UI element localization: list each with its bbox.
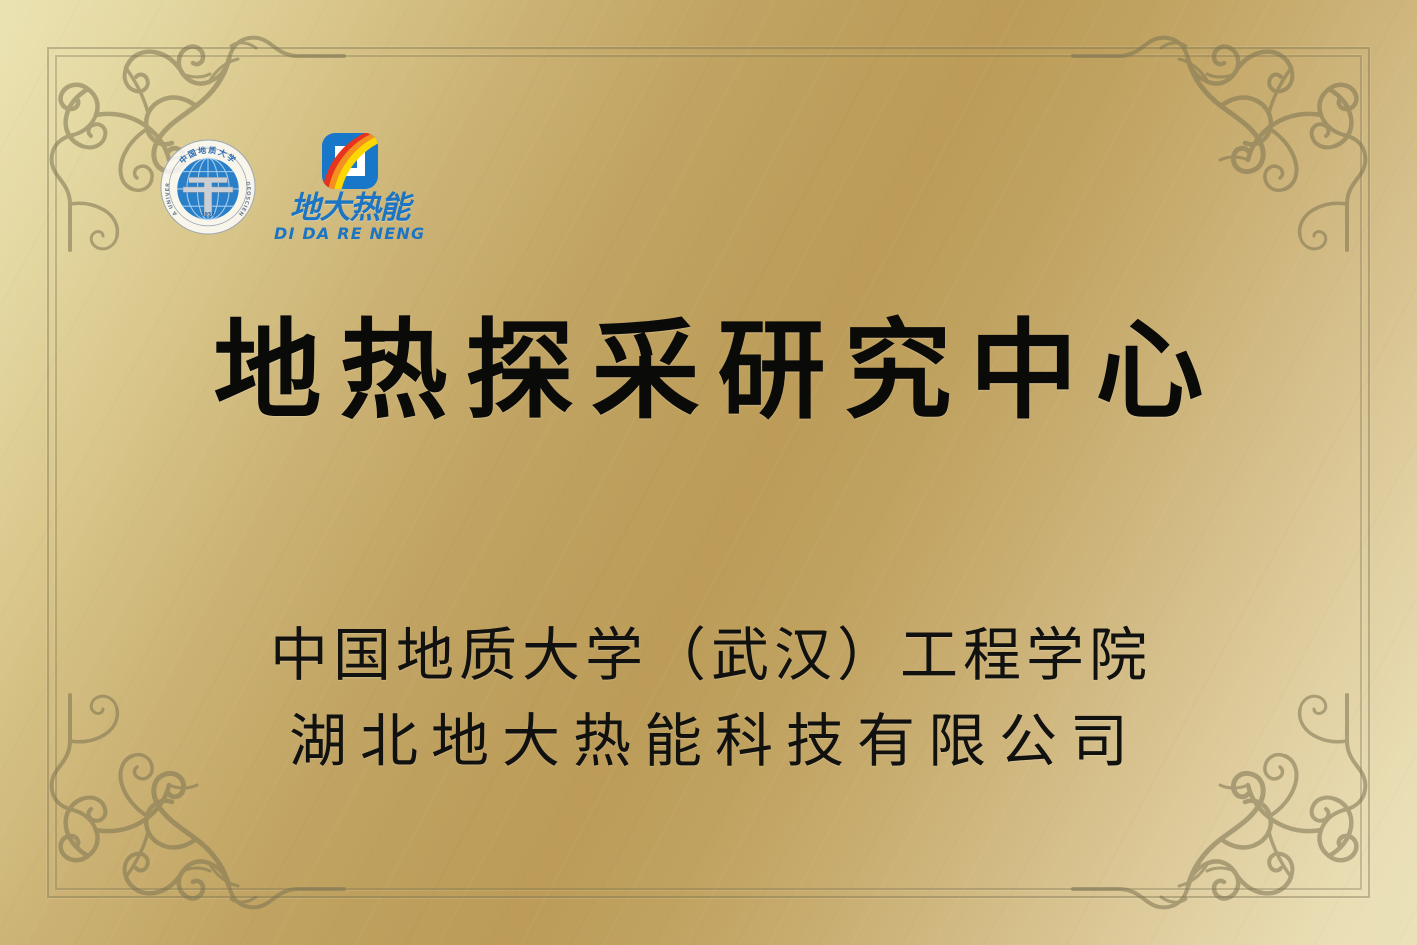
corner-ornament-top-right-icon (1061, 12, 1391, 262)
plaque-title: 地热探采研究中心 (0, 318, 1417, 426)
didareneng-chinese-name: 地大热能 (290, 193, 410, 224)
logo-row: 中国地质大学 CHINA UNIVERSITY OF GEOSCIENCES (160, 132, 425, 243)
subtitle-line-1: 中国地质大学（武汉）工程学院 (0, 612, 1417, 698)
award-plaque: 中国地质大学 CHINA UNIVERSITY OF GEOSCIENCES (0, 0, 1417, 945)
plaque-subtitle: 中国地质大学（武汉）工程学院 湖北地大热能科技有限公司 (0, 612, 1417, 784)
subtitle-line-2: 湖北地大热能科技有限公司 (0, 698, 1417, 784)
didareneng-rainbow-mark-icon (319, 132, 381, 192)
svg-text:1952: 1952 (201, 212, 214, 218)
didareneng-logo: 地大热能 DI DA RE NENG (274, 132, 425, 243)
china-university-of-geosciences-emblem-icon: 中国地质大学 CHINA UNIVERSITY OF GEOSCIENCES (160, 139, 256, 235)
didareneng-pinyin: DI DA RE NENG (274, 225, 425, 243)
